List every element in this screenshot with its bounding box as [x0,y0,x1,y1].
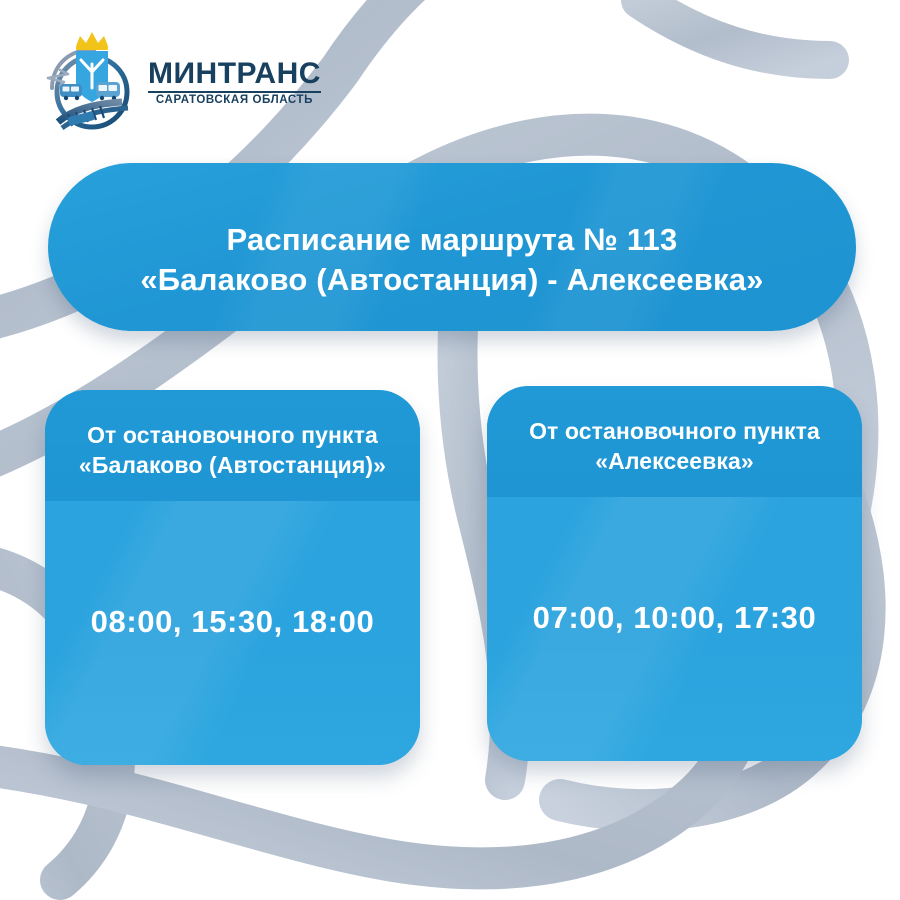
schedule-poster: МИНТРАНС САРАТОВСКАЯ ОБЛАСТЬ Расписание … [0,0,900,900]
direction-card-header: От остановочного пункта «Балаково (Автос… [45,390,420,501]
departure-times: 07:00, 10:00, 17:30 [533,600,817,636]
logo-wordmark: МИНТРАНС САРАТОВСКАЯ ОБЛАСТЬ [148,53,321,107]
page-title-line-2: «Балаково (Автостанция) - Алексеевка» [140,260,763,300]
departure-times: 08:00, 15:30, 18:00 [91,604,375,640]
page-title: Расписание маршрута № 113 «Балаково (Авт… [100,194,803,301]
direction-card-body: 08:00, 15:30, 18:00 [45,501,420,765]
title-banner: Расписание маршрута № 113 «Балаково (Авт… [48,163,856,331]
direction-card-heading: От остановочного пункта «Балаково (Автос… [63,420,402,481]
logo-divider [148,91,321,93]
logo-title: МИНТРАНС [148,59,321,89]
bus-icon [60,84,82,100]
logo-region: САРАТОВСКАЯ ОБЛАСТЬ [156,95,313,107]
direction-card-body: 07:00, 10:00, 17:30 [487,497,862,761]
ministry-logo: МИНТРАНС САРАТОВСКАЯ ОБЛАСТЬ [38,24,298,136]
ministry-emblem-icon [38,26,146,134]
direction-card-heading: От остановочного пункта «Алексеевка» [505,416,844,477]
direction-card-balakovo: От остановочного пункта «Балаково (Автос… [45,390,420,765]
crown-icon [76,32,108,50]
direction-heading-line-2: «Алексеевка» [505,446,844,476]
tram-icon [96,82,120,100]
direction-heading-line-1: От остановочного пункта [505,416,844,446]
direction-card-header: От остановочного пункта «Алексеевка» [487,386,862,497]
direction-heading-line-2: «Балаково (Автостанция)» [63,450,402,480]
page-title-line-1: Расписание маршрута № 113 [140,220,763,260]
direction-card-alekseevka: От остановочного пункта «Алексеевка» 07:… [487,386,862,761]
direction-heading-line-1: От остановочного пункта [63,420,402,450]
